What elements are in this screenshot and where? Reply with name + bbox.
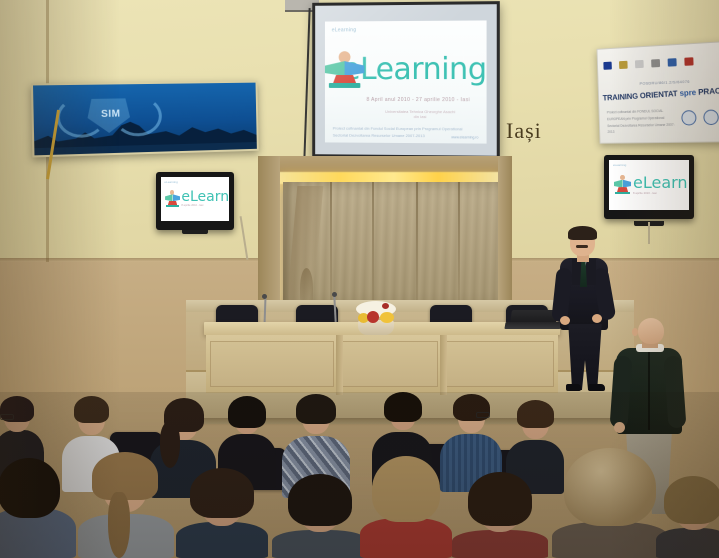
banner-body-text: Proiect cofinantat din FONDUL SOCIAL EUR… [607,108,676,136]
banner-logo-row [603,53,719,73]
person-body [452,530,548,558]
left-tv-slide: eLearning eLearning 8 aprilie 2010 - Ias… [161,177,229,221]
head-table-leg [440,335,447,395]
audience-person [360,456,452,558]
audience-person [272,474,368,558]
gov-emblem-icon [619,61,628,69]
banner-headline-p3: PRACTICĂ [698,85,719,97]
banner-seal-2-icon [703,109,719,125]
person-hair [664,476,719,524]
projection-screen: eLearning eLearning 8 April anul 2010 - … [312,1,500,159]
person-hair [517,400,554,428]
curtain-fold [330,182,332,308]
right-tv-corner-text: eLearning [613,163,626,167]
person-hair [372,456,440,522]
head-table-panel [342,341,438,387]
right-tv-bezel: eLearning eLearning 8 aprilie 2010 - Ias… [604,155,694,219]
alcove-left-jamb [258,156,280,308]
left-tv-stand [182,230,208,234]
book-person-logo-icon [325,51,339,89]
head-table-leg [336,335,343,395]
person-body [272,530,368,558]
eyeglasses-icon [0,414,14,420]
left-tv-bezel: eLearning eLearning 8 aprilie 2010 - Ias… [156,172,234,230]
person-ponytail [108,492,130,558]
right-tv-screen: eLearning eLearning 8 aprilie 2010 - Ias… [609,160,689,210]
left-tv-subtitle: 8 aprilie 2010 - Iasi [181,204,226,207]
person-hair [288,474,352,526]
person-body [656,528,719,558]
university-logo-icon [684,57,693,66]
person-body [176,522,268,558]
ministry-logo-icon [635,60,644,68]
presenter-trousers [566,324,604,390]
right-tv-book-logo-icon [614,175,632,196]
presenter-shoe [588,384,605,391]
banner-seal-1-icon [681,110,696,126]
presenter-mustache [576,245,588,248]
red-flower [382,303,389,309]
audience-person [552,448,668,558]
left-tv-book-logo-icon [165,190,180,208]
slide-corner-logo: eLearning [332,27,357,33]
audience-person [176,468,268,558]
head-table-panel [446,341,554,387]
head-table-panel [210,341,334,387]
person-hair [296,394,336,424]
person-body [552,522,668,558]
presenter-hair [568,226,597,240]
sim-logo-text: SIM [91,108,130,120]
standing-man-ear [632,328,638,336]
curtain-fold [458,182,460,308]
partner-logo-icon [651,59,660,67]
eu-flag-icon [603,62,612,70]
presenter-person [552,228,620,390]
right-tv-cable [648,222,650,244]
banner-program-code: POSDRU/86/1.2/S/64076 [639,77,719,86]
right-wall-tv: eLearning eLearning 8 aprilie 2010 - Ias… [604,155,694,219]
left-tv-corner-text: eLearning [164,180,177,184]
left-wall-tv: eLearning eLearning 8 aprilie 2010 - Ias… [156,172,234,230]
person-hair [564,448,656,526]
microphone-head-icon [332,292,337,297]
person-hair [468,472,532,526]
left-tv-screen: eLearning eLearning 8 aprilie 2010 - Ias… [161,177,229,221]
eyeglasses-icon [476,412,490,418]
right-tv-slide: eLearning eLearning 8 aprilie 2010 - Ias… [609,160,689,210]
microphone-head-icon [262,294,267,299]
yellow-flower [380,312,394,323]
audience-person [656,476,719,558]
project-banner: POSDRU/86/1.2/S/64076 TRAINING ORIENTAT … [597,41,719,144]
banner-headline-p2: spre [679,88,698,98]
presenter-left-hand [560,316,570,325]
person-hair [0,458,60,518]
standing-man-hand [614,422,625,433]
presenter-right-hand [592,314,602,323]
flower-bouquet [354,301,398,335]
curtain-fold [416,182,418,308]
banner-headline: TRAINING ORIENTAT spre PRACTICĂ prin FI [602,86,719,103]
conference-hall-photo: SIM eLearning eLearning 8 April anul 201… [0,0,719,558]
sim-banner: SIM [31,81,259,158]
person-hair [74,396,109,423]
jacket-back-seam [648,352,650,430]
slide-subtitle-2: Universitatea Tehnica Gheorghe Asachi di… [384,109,456,119]
person-hair [92,452,158,500]
alcove-top-frame [258,156,510,172]
presenter-shoe [566,384,581,391]
wall-location-label: Iași [506,118,542,144]
left-tv-title: eLearning [181,190,229,204]
right-tv-subtitle: 8 aprilie 2010 - Iasi [633,191,686,195]
red-flower [367,311,379,323]
person-body [360,518,452,558]
standing-man-right-arm [664,355,687,428]
audience-person [0,458,76,558]
curtain-fold [372,182,374,308]
audience-person [452,472,548,558]
slide-headline-row: eLearning [325,51,487,89]
projected-slide: eLearning eLearning 8 April anul 2010 - … [325,20,487,143]
right-tv-title: eLearning [633,175,689,191]
banner-headline-p1: TRAINING ORIENTAT [602,89,679,103]
alcove-right-jamb [498,156,512,308]
standing-man-head [638,318,664,344]
slide-subtitle: 8 April anul 2010 - 27 aprilie 2010 - Ia… [364,97,472,103]
person-hair [384,392,422,422]
audience-person [78,452,174,558]
amposdru-logo-icon [668,58,677,66]
person-hair [190,468,254,518]
person-hair [228,396,266,428]
